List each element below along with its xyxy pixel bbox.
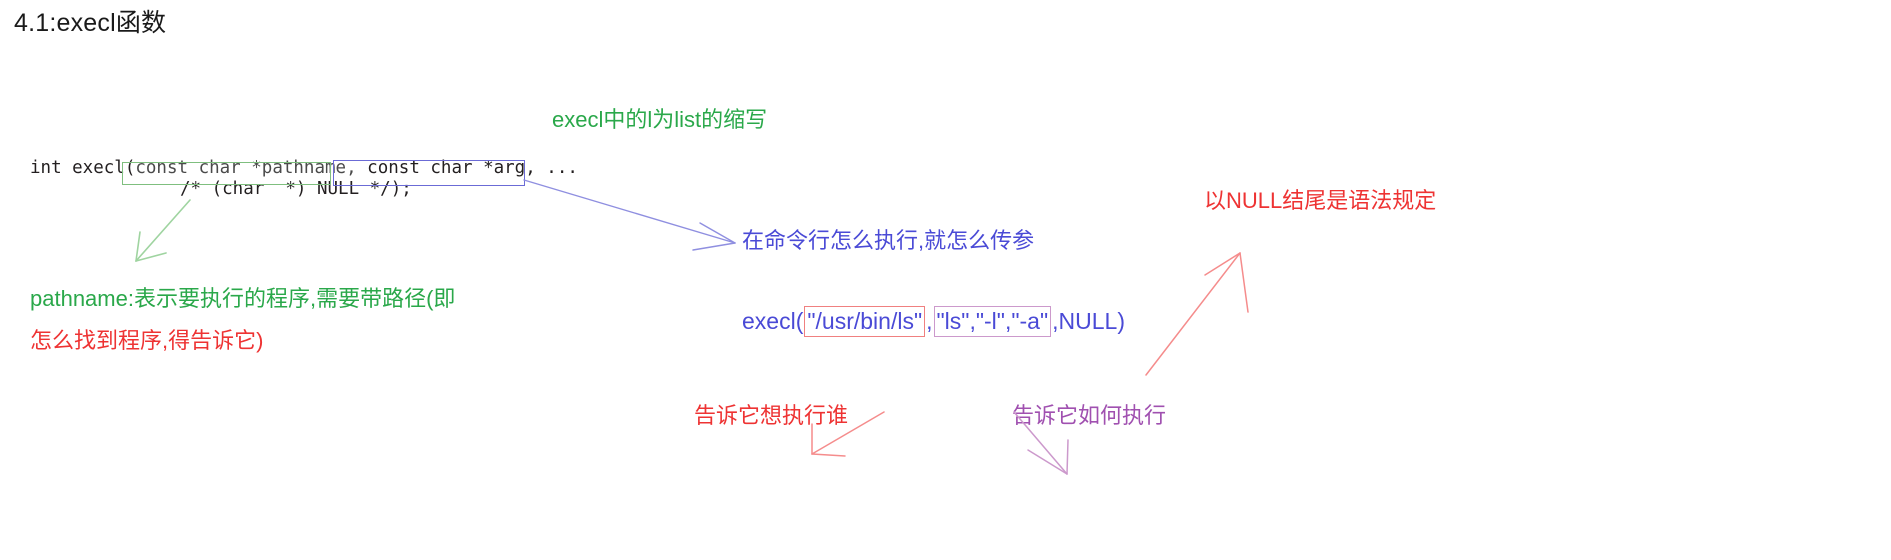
call-list-arguments: "ls","-l","-a" <box>934 306 1052 337</box>
arg-highlight-box <box>333 160 525 186</box>
call-null-argument: NULL) <box>1059 308 1125 335</box>
code-prefix: int execl( <box>30 158 135 178</box>
call-path-argument: "/usr/bin/ls" <box>804 306 925 337</box>
call-comma-1: , <box>926 308 932 335</box>
annotation-null-rule: 以NULL结尾是语法规定 <box>1204 186 1436 216</box>
pathname-highlight-box <box>122 162 331 185</box>
annotation-who-to-run: 告诉它想执行谁 <box>694 401 848 431</box>
annotation-cmdline: 在命令行怎么执行,就怎么传参 <box>742 226 1034 256</box>
annotation-list-abbrev: execl中的l为list的缩写 <box>552 105 767 135</box>
arrow-pathname-green <box>136 200 190 261</box>
annotation-pathname-line1: pathname:表示要执行的程序,需要带路径(即 <box>30 278 455 320</box>
call-prefix: execl( <box>742 308 803 335</box>
annotation-pathname-line2: 怎么找到程序,得告诉它) <box>30 320 455 362</box>
page-title: 4.1:execl函数 <box>14 3 166 39</box>
arrow-null-red <box>1146 253 1248 375</box>
annotation-how-to-run: 告诉它如何执行 <box>1012 401 1166 431</box>
execl-call-example: execl("/usr/bin/ls","ls","-l","-a",NULL) <box>742 306 1125 337</box>
annotated-slide-canvas: 4.1:execl函数 int execl(const char *pathna… <box>0 0 1891 560</box>
annotation-pathname: pathname:表示要执行的程序,需要带路径(即 怎么找到程序,得告诉它) <box>30 278 455 362</box>
